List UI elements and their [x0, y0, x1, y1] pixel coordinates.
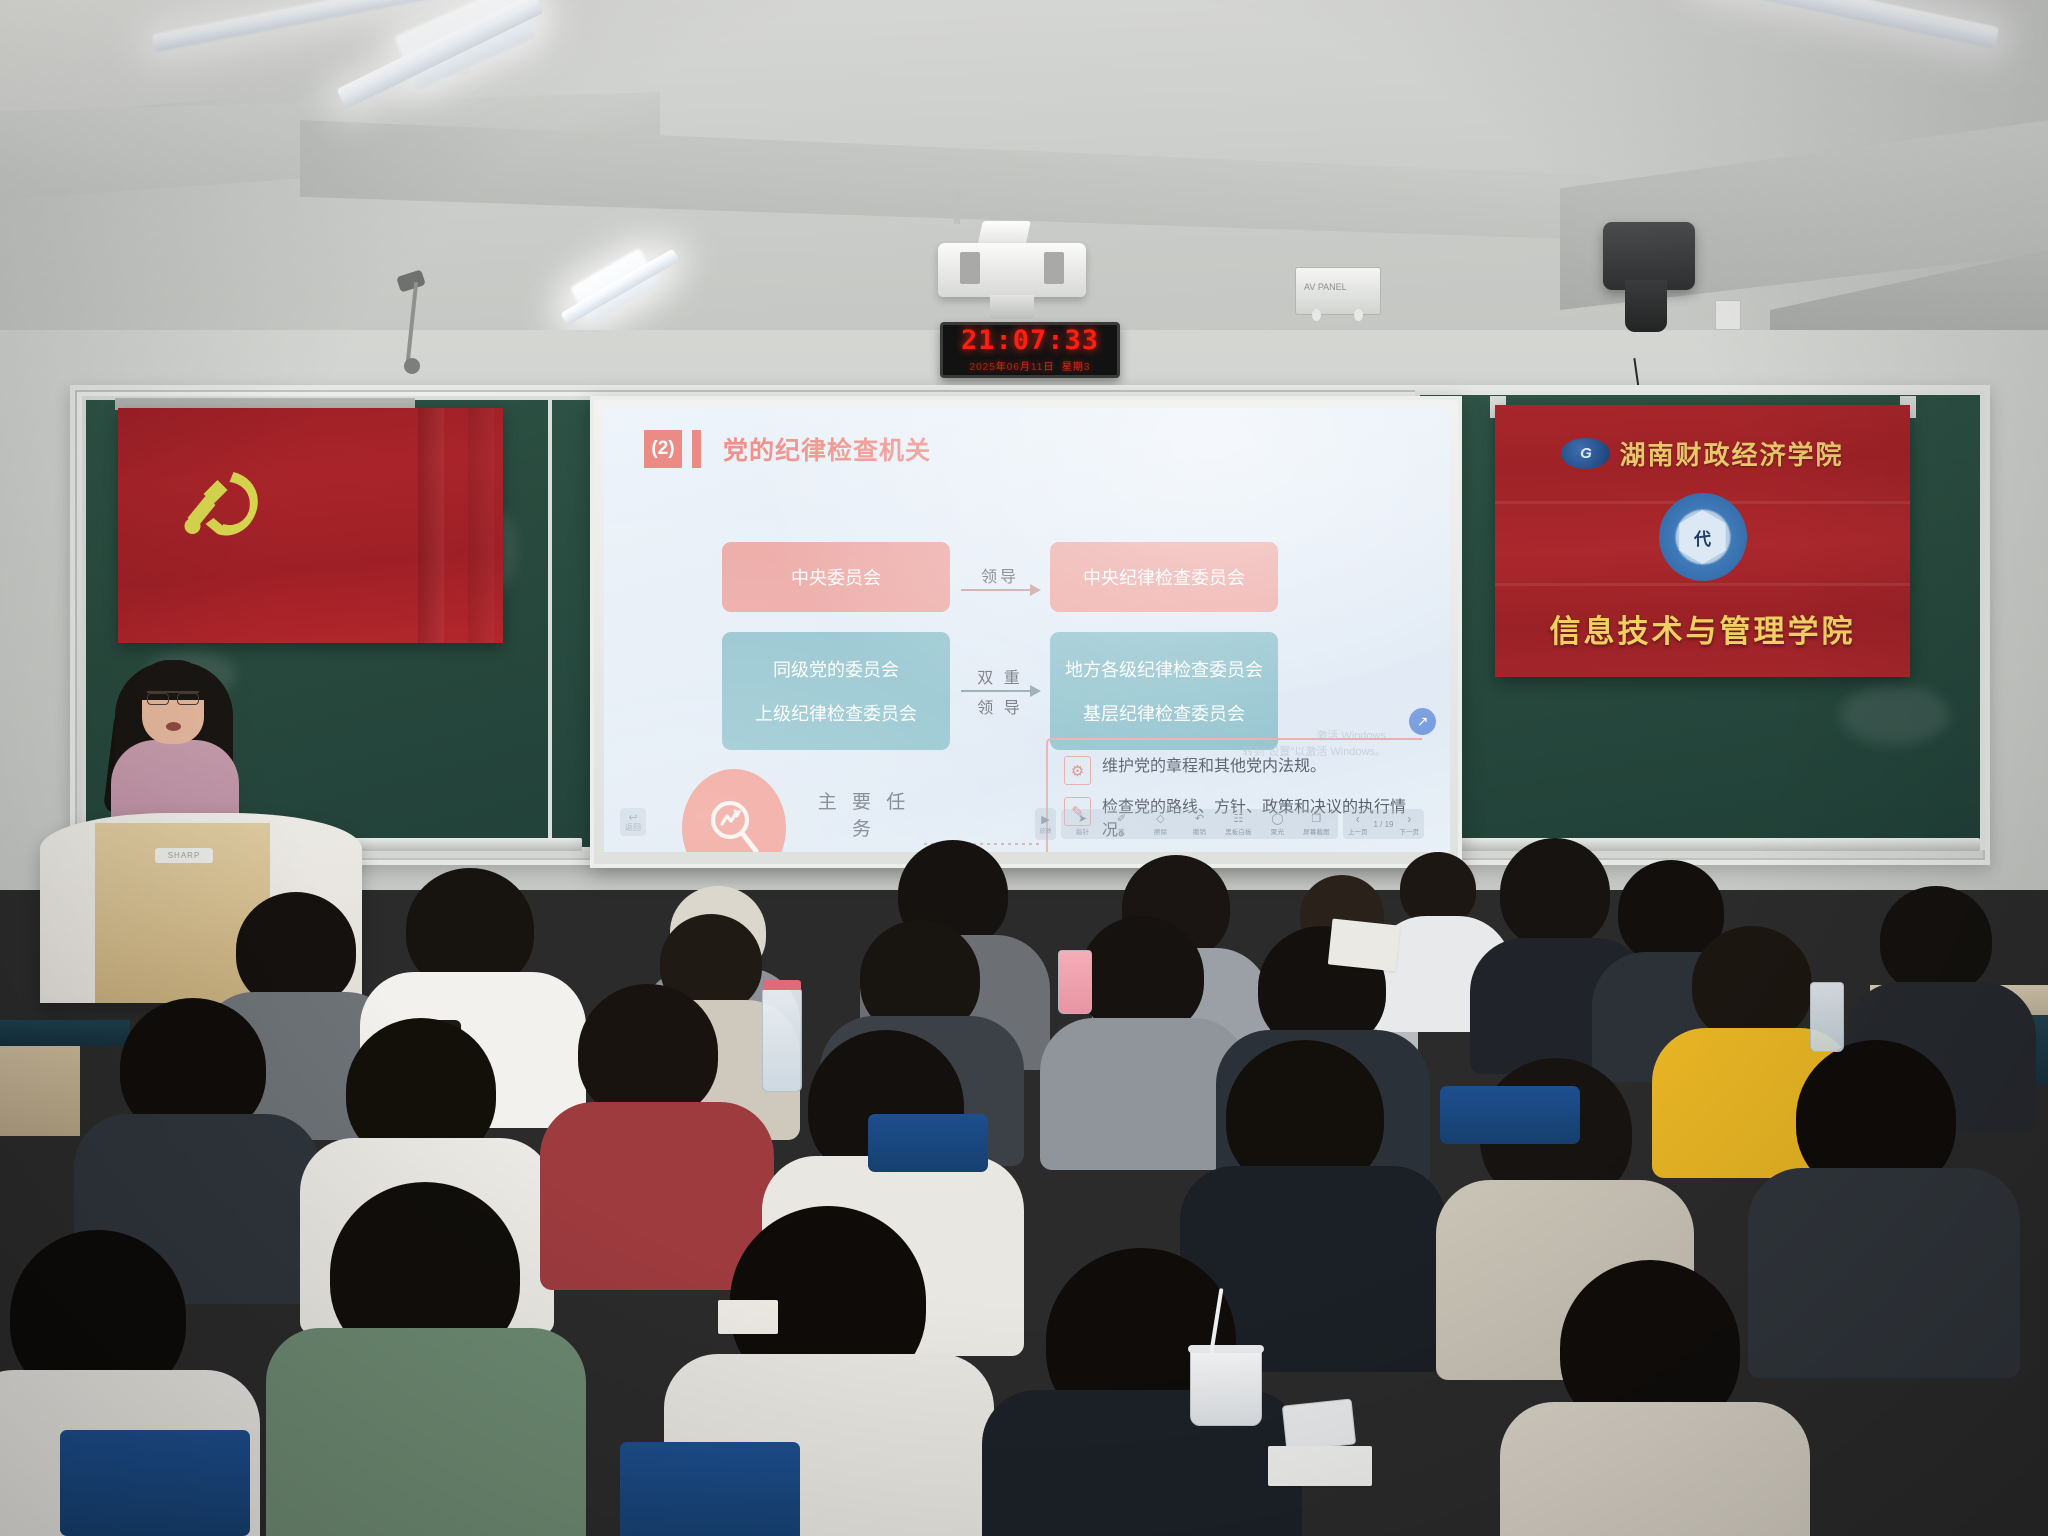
- flow-box-label: 同级党的委员会: [773, 656, 899, 682]
- av-panel-label: AV PANEL: [1304, 282, 1347, 292]
- flow-box-central-committee: 中央委员会: [722, 542, 950, 612]
- student-head: [1880, 886, 1992, 994]
- projector-rod: [954, 190, 960, 224]
- slide-header: (2) 党的纪律检查机关: [644, 430, 931, 468]
- clock-weekday-label: 星期: [1062, 362, 1084, 373]
- flow-box-label: 上级纪律检查委员会: [755, 700, 917, 726]
- paper-sheet: [718, 1300, 778, 1334]
- student-body: [266, 1328, 586, 1536]
- arrow-line-icon: [961, 690, 1039, 692]
- audience: [0, 830, 2048, 1536]
- paper-sheet: [1268, 1446, 1372, 1486]
- party-flag: [118, 408, 503, 643]
- phone: [1282, 1398, 1356, 1451]
- college-seal-icon: 代: [1659, 493, 1747, 581]
- student-head: [578, 984, 718, 1120]
- windows-activation-watermark: 激活 Windows 转到"设置"以激活 Windows。: [1243, 729, 1387, 760]
- flow-arrow-label: 领 导: [977, 694, 1022, 718]
- flow-box-peer-committees: 同级党的委员会 上级纪律检查委员会: [722, 632, 950, 750]
- list-item: ⚙ 维护党的章程和其他党内法规。: [1064, 756, 1422, 785]
- digital-clock: 21:07:33 2025年06月11日 星期3: [940, 322, 1120, 378]
- arrow-line-icon: [961, 589, 1039, 591]
- hammer-and-sickle-icon: [173, 456, 278, 556]
- clock-day-label: 日: [1043, 362, 1054, 373]
- wall-outlet: [1715, 300, 1741, 330]
- water-bottle: [762, 988, 802, 1092]
- flow-arrow-label: 双 重: [977, 664, 1022, 688]
- college-name: 信息技术与管理学院: [1495, 606, 1910, 651]
- university-name: 湖南财政经济学院: [1619, 435, 1843, 472]
- banner-header: G 湖南财政经济学院: [1495, 435, 1910, 472]
- clock-year-label: 年: [996, 362, 1007, 373]
- clock-day-digits: 11: [1031, 362, 1043, 373]
- clock-month-digits: 06: [1007, 362, 1020, 373]
- section-number-badge: (2): [644, 430, 682, 468]
- student-head: [1400, 852, 1476, 926]
- classroom-lecture-photo: 21:07:33 2025年06月11日 星期3 AV PANEL: [0, 0, 2048, 1536]
- paper-sheet: [1328, 919, 1400, 972]
- water-bottle: [1058, 950, 1092, 1014]
- water-bottle: [1810, 982, 1844, 1052]
- chair: [868, 1114, 988, 1172]
- ceiling-projector-icon: [938, 243, 1086, 297]
- flow-row-1: 中央委员会 领导 中央纪律检查委员会: [722, 542, 1342, 612]
- flow-arrow-label: 领导: [981, 563, 1019, 587]
- chair: [620, 1442, 800, 1536]
- chair: [1440, 1086, 1580, 1144]
- presenter: [95, 648, 255, 828]
- ceiling-beam: [300, 120, 1600, 240]
- speaker-icon: [1603, 222, 1695, 290]
- watermark-line-1: 激活 Windows: [1243, 729, 1387, 744]
- glasses-icon: [147, 691, 199, 701]
- projector-lens: [990, 295, 1034, 319]
- clock-date: 2025年06月11日 星期3: [970, 358, 1091, 373]
- av-control-panel[interactable]: AV PANEL: [1295, 267, 1381, 315]
- flow-arrow-1: 领导: [950, 563, 1050, 591]
- department-banner: G 湖南财政经济学院 代 信息技术与管理学院: [1495, 405, 1910, 677]
- flow-box-label: 中央委员会: [791, 564, 881, 590]
- flow-arrow-2: 双 重 领 导: [950, 664, 1050, 718]
- flow-box-label: 基层纪律检查委员会: [1083, 700, 1245, 726]
- clock-month-label: 月: [1020, 362, 1031, 373]
- presenter-mouth: [166, 722, 181, 731]
- cloud-sync-icon[interactable]: ↗: [1409, 708, 1436, 735]
- page-indicator: 1 / 19: [1373, 820, 1393, 829]
- watermark-line-2: 转到"设置"以激活 Windows。: [1243, 745, 1387, 760]
- clock-weekday-digit: 3: [1084, 362, 1091, 373]
- chair: [60, 1430, 250, 1536]
- gear-icon: ⚙: [1064, 756, 1091, 785]
- microphone-base: [404, 358, 420, 374]
- flow-box-label: 地方各级纪律检查委员会: [1065, 656, 1263, 682]
- student-head: [1692, 926, 1812, 1042]
- student-body: [1500, 1402, 1810, 1536]
- clock-year-digits: 2025: [970, 362, 996, 373]
- university-logo-icon: G: [1561, 438, 1610, 469]
- title-accent-bar: [692, 430, 701, 468]
- student-body: [1748, 1168, 2020, 1378]
- clock-time: 21:07:33: [961, 327, 1099, 354]
- student-head: [236, 892, 356, 1008]
- fluorescent-light: [1701, 0, 1999, 49]
- flow-box-label: 中央纪律检查委员会: [1083, 564, 1245, 590]
- student-head: [1500, 838, 1610, 948]
- page-title: 党的纪律检查机关: [723, 431, 931, 467]
- flow-box-central-discipline: 中央纪律检查委员会: [1050, 542, 1278, 612]
- college-seal-character: 代: [1676, 510, 1730, 564]
- drink-cup: [1190, 1350, 1262, 1426]
- presentation-slide[interactable]: (2) 党的纪律检查机关 中央委员会 领导 中央纪律检查委员会 同级党的委员会: [604, 408, 1450, 852]
